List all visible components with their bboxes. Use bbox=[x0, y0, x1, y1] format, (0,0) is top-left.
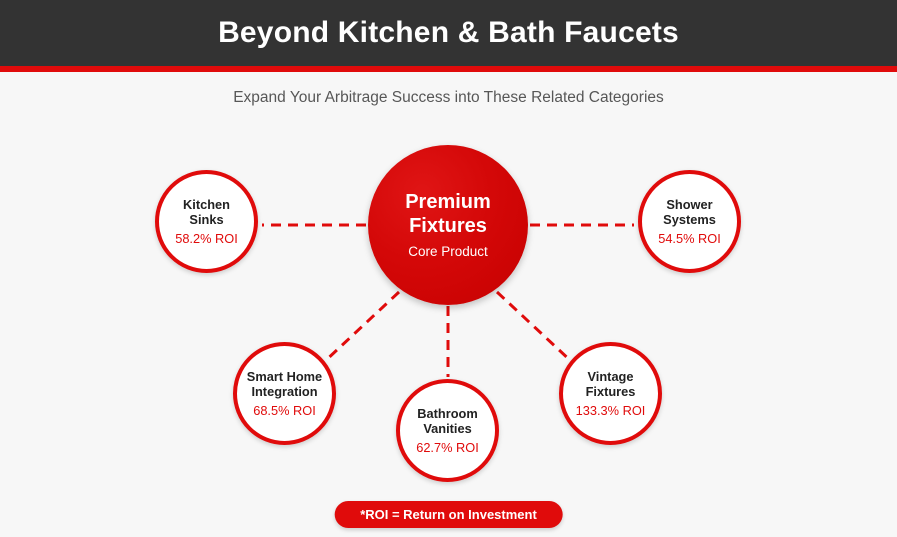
header-bar: Beyond Kitchen & Bath Faucets bbox=[0, 0, 897, 66]
page-title: Beyond Kitchen & Bath Faucets bbox=[218, 18, 679, 48]
satellite-label: Kitchen Sinks bbox=[159, 197, 254, 228]
satellite-node-shower-systems[interactable]: Shower Systems 54.5% ROI bbox=[638, 170, 741, 273]
satellite-roi-value: 54.5% ROI bbox=[658, 231, 721, 246]
satellite-label: Smart Home Integration bbox=[237, 369, 332, 400]
core-node-subtitle: Core Product bbox=[408, 245, 488, 259]
satellite-roi-value: 133.3% ROI bbox=[576, 403, 646, 418]
satellite-roi-value: 58.2% ROI bbox=[175, 231, 238, 246]
satellite-node-bathroom-vanities[interactable]: Bathroom Vanities 62.7% ROI bbox=[396, 379, 499, 482]
page-subtitle: Expand Your Arbitrage Success into These… bbox=[0, 89, 897, 108]
header-accent-bar bbox=[0, 66, 897, 72]
connector-core-to-smart-home bbox=[323, 292, 399, 363]
satellite-label: Bathroom Vanities bbox=[400, 406, 495, 437]
satellite-node-vintage-fixtures[interactable]: Vintage Fixtures 133.3% ROI bbox=[559, 342, 662, 445]
satellite-roi-value: 62.7% ROI bbox=[416, 440, 479, 455]
satellite-roi-value: 68.5% ROI bbox=[253, 403, 316, 418]
satellite-label: Shower Systems bbox=[642, 197, 737, 228]
satellite-label: Vintage Fixtures bbox=[563, 369, 658, 400]
satellite-node-smart-home-integration[interactable]: Smart Home Integration 68.5% ROI bbox=[233, 342, 336, 445]
core-node-title: Premium Fixtures bbox=[368, 191, 528, 238]
core-node-premium-fixtures[interactable]: Premium Fixtures Core Product bbox=[368, 145, 528, 305]
roi-legend-badge: *ROI = Return on Investment bbox=[334, 501, 563, 528]
connector-core-to-vintage-fixtures bbox=[497, 292, 573, 363]
satellite-node-kitchen-sinks[interactable]: Kitchen Sinks 58.2% ROI bbox=[155, 170, 258, 273]
hub-spoke-infographic: Beyond Kitchen & Bath Faucets Expand You… bbox=[0, 0, 897, 537]
diagram-canvas: Premium Fixtures Core Product Kitchen Si… bbox=[0, 120, 897, 490]
